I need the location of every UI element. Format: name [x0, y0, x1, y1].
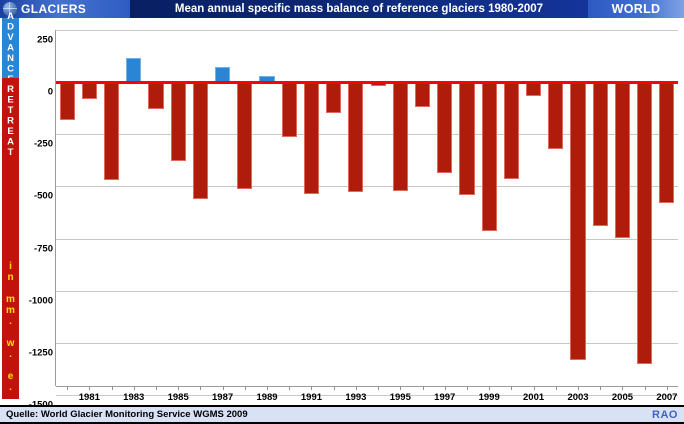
x-axis-tick: [378, 386, 379, 390]
bar-1985: [171, 82, 186, 161]
credit-label: RAO: [652, 409, 678, 421]
x-axis-tick: [334, 386, 335, 390]
zero-baseline: [56, 81, 678, 84]
gridline: [56, 30, 678, 31]
header-left-section: GLACIERS: [0, 0, 130, 18]
plot-area: [56, 30, 678, 395]
x-axis-tick-label: 2001: [523, 392, 544, 403]
bar-1995: [393, 82, 408, 190]
x-axis-tick-label: 1981: [79, 392, 100, 403]
x-axis-line: [56, 386, 678, 387]
bar-1997: [437, 82, 452, 173]
x-axis-tick: [178, 386, 179, 390]
x-axis-tick: [89, 386, 90, 390]
sidebar-advance-band: ADVANCE: [2, 18, 19, 78]
bar-1981: [82, 82, 97, 99]
bar-1983: [126, 58, 141, 82]
bar-2006: [637, 82, 652, 364]
bar-2000: [504, 82, 519, 179]
direction-legend-sidebar: ADVANCE RETREAT in mm. w. e.: [2, 18, 19, 399]
bar-1987: [215, 67, 230, 83]
x-axis-tick: [267, 386, 268, 390]
x-axis-tick: [423, 386, 424, 390]
bar-2003: [570, 82, 585, 359]
bar-1980: [60, 82, 75, 120]
x-axis-tick-label: 2005: [612, 392, 633, 403]
bar-1996: [415, 82, 430, 107]
bar-2007: [659, 82, 674, 203]
x-axis-tick: [622, 386, 623, 390]
x-axis-tick-label: 1991: [301, 392, 322, 403]
x-axis-tick: [112, 386, 113, 390]
sidebar-advance-label: ADVANCE: [6, 11, 15, 85]
x-axis-tick-label: 2007: [656, 392, 677, 403]
header-scope-section: WORLD: [588, 0, 684, 18]
x-axis-tick-label: 1987: [212, 392, 233, 403]
y-axis-tick-label: -1000: [29, 295, 53, 306]
x-axis-tick: [200, 386, 201, 390]
x-axis-tick: [356, 386, 357, 390]
y-axis-tick-label: -500: [34, 191, 53, 202]
y-axis-tick-label: -750: [34, 243, 53, 254]
x-axis-tick: [67, 386, 68, 390]
x-axis-tick: [289, 386, 290, 390]
x-axis-tick: [467, 386, 468, 390]
x-axis-tick-label: 1997: [434, 392, 455, 403]
x-axis-tick: [223, 386, 224, 390]
bar-1986: [193, 82, 208, 199]
x-axis-tick: [489, 386, 490, 390]
x-axis-tick: [311, 386, 312, 390]
x-axis-tick-label: 1999: [479, 392, 500, 403]
x-axis-tick: [600, 386, 601, 390]
bar-2001: [526, 82, 541, 96]
x-axis-tick: [578, 386, 579, 390]
x-axis-tick-label: 1989: [256, 392, 277, 403]
x-axis-tick-label: 1985: [168, 392, 189, 403]
bar-1982: [104, 82, 119, 180]
bar-1998: [459, 82, 474, 195]
sidebar-retreat-label: RETREAT: [6, 84, 15, 158]
bar-1999: [482, 82, 497, 231]
x-axis-tick: [645, 386, 646, 390]
x-axis-tick: [134, 386, 135, 390]
bar-1991: [304, 82, 319, 194]
bar-1992: [326, 82, 341, 113]
app-header: GLACIERS Mean annual specific mass balan…: [0, 0, 684, 18]
y-axis-tick-label: 250: [37, 35, 53, 46]
x-axis-tick-label: 1995: [390, 392, 411, 403]
bar-1984: [148, 82, 163, 109]
header-category-label: GLACIERS: [21, 2, 86, 16]
bar-1988: [237, 82, 252, 188]
bar-2004: [593, 82, 608, 226]
x-axis-tick-label: 2003: [567, 392, 588, 403]
x-axis-tick: [400, 386, 401, 390]
mass-balance-bar-chart: 2500-250-500-750-1000-1250-1500 Year 198…: [22, 20, 682, 396]
header-title-section: Mean annual specific mass balance of ref…: [130, 0, 588, 18]
x-axis-tick-label: 1993: [345, 392, 366, 403]
y-axis-tick-label: -250: [34, 139, 53, 150]
x-axis-tick: [556, 386, 557, 390]
x-axis-tick: [667, 386, 668, 390]
header-scope-label: WORLD: [612, 2, 661, 16]
bar-2002: [548, 82, 563, 149]
sidebar-unit-label: in mm. w. e.: [6, 261, 15, 393]
x-axis-tick: [245, 386, 246, 390]
x-axis-tick-label: 1983: [123, 392, 144, 403]
bar-1993: [348, 82, 363, 192]
y-axis-labels: 2500-250-500-750-1000-1250-1500: [22, 30, 53, 395]
x-axis-tick: [445, 386, 446, 390]
x-axis-tick: [534, 386, 535, 390]
bar-2005: [615, 82, 630, 237]
y-axis-tick-label: -1250: [29, 347, 53, 358]
y-axis-tick-label: 0: [48, 87, 53, 98]
footer-bar: Quelle: World Glacier Monitoring Service…: [0, 405, 684, 424]
bar-1990: [282, 82, 297, 137]
source-note: Quelle: World Glacier Monitoring Service…: [6, 409, 248, 420]
sidebar-retreat-band: RETREAT in mm. w. e.: [2, 78, 19, 399]
x-axis-tick: [511, 386, 512, 390]
x-axis-tick: [156, 386, 157, 390]
page-title: Mean annual specific mass balance of ref…: [175, 3, 543, 15]
